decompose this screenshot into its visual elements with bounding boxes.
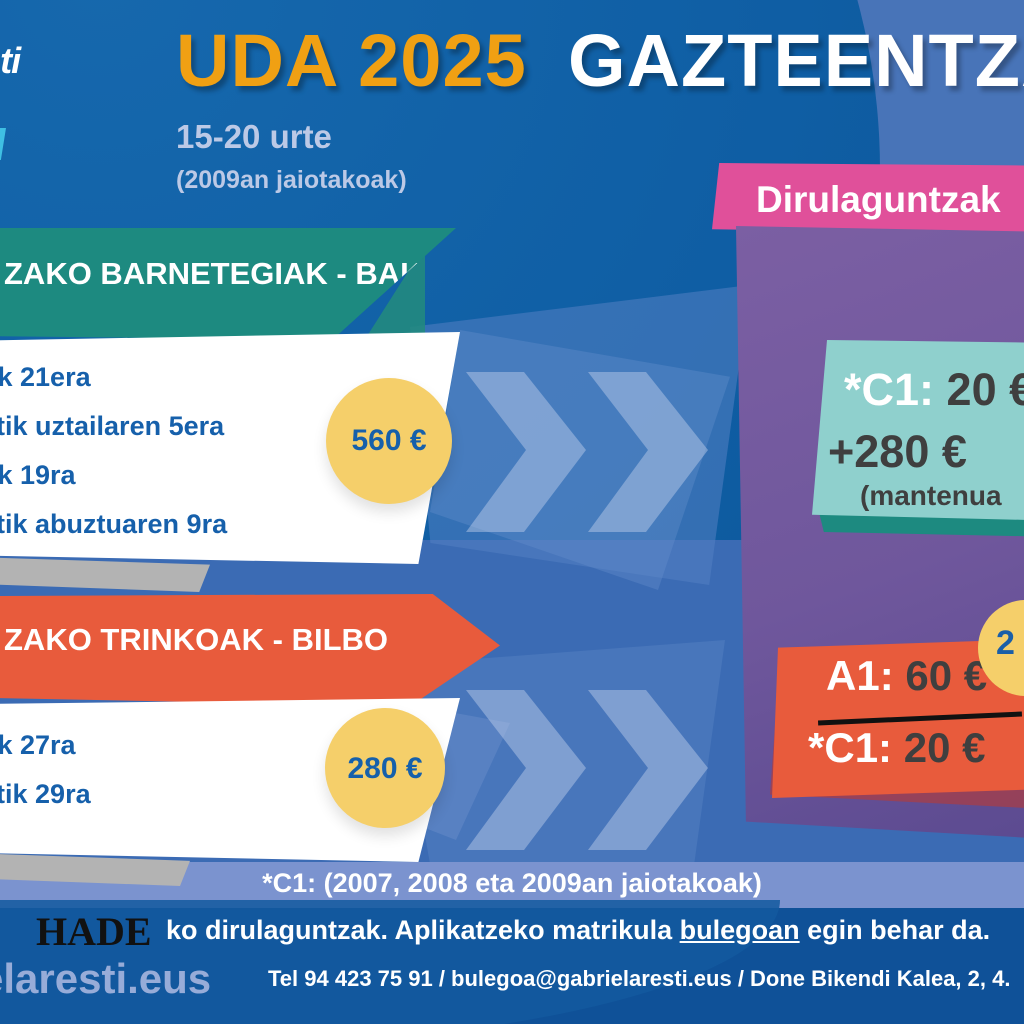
footnote-text: *C1: (2007, 2008 eta 2009an jaiotakoak) bbox=[0, 868, 1024, 899]
logo-line-1: aresti bbox=[0, 44, 120, 78]
subsidy-red-bottom-label: C1: bbox=[824, 724, 892, 771]
logo-line-2: gia* bbox=[0, 80, 108, 114]
price-badge-trinkoak: 280 € bbox=[325, 708, 445, 828]
subsidy-red-bottom-value: 20 € bbox=[904, 724, 986, 771]
list-item: n 2tik 27ra bbox=[0, 730, 91, 761]
hade-description-before: ko dirulaguntzak. Aplikatzeko matrikula bbox=[166, 915, 680, 945]
hade-description: ko dirulaguntzak. Aplikatzeko matrikula … bbox=[166, 915, 990, 946]
arrow-chevron-1b bbox=[588, 372, 708, 532]
price-badge-barnetegiak: 560 € bbox=[326, 378, 452, 504]
birth-year-note: (2009an jaiotakoak) bbox=[176, 166, 407, 195]
price-badge-barnetegiak-label: 560 € bbox=[326, 424, 452, 458]
section-heading-trinkoak: ZAKO TRINKOAK - BILBO bbox=[0, 594, 500, 706]
poster-canvas: aresti gia* ehiago UDA 2025 GAZTEENTZA 1… bbox=[0, 0, 1024, 1024]
subsidy-red-line-1: A1: 60 € bbox=[826, 652, 987, 700]
price-badge-trinkoak-label: 280 € bbox=[325, 752, 445, 786]
asterisk-icon: * bbox=[844, 364, 862, 415]
arrow-chevron-2a bbox=[466, 690, 586, 850]
list-item: n 7tik 19ra bbox=[0, 460, 227, 491]
section-heading-trinkoak-label: ZAKO TRINKOAK - BILBO bbox=[4, 622, 388, 658]
arrow-chevron-1a bbox=[466, 372, 586, 532]
page-title-rest: GAZTEENTZA bbox=[568, 24, 1024, 98]
subsidy-red-top-value: 60 € bbox=[905, 652, 987, 699]
list-item: n 23tik uztailaren 5era bbox=[0, 411, 227, 442]
subsidy-teal-value: 20 € bbox=[947, 364, 1024, 415]
subsidy-teal-line-3: (mantenua bbox=[860, 480, 1002, 512]
asterisk-icon: * bbox=[808, 724, 824, 771]
subsidy-red-line-2: *C1: 20 € bbox=[808, 724, 985, 772]
subsidy-teal-line-1: *C1: 20 € bbox=[844, 364, 1024, 416]
subsidy-teal-card: *C1: 20 € +280 € (mantenua bbox=[812, 340, 1024, 522]
subsidy-red-top-label: A1: bbox=[826, 652, 894, 699]
subsidy-teal-label: C1: bbox=[862, 364, 935, 415]
page-title-highlight: UDA 2025 bbox=[176, 24, 527, 98]
subsidies-banner-label: Dirulaguntzak bbox=[756, 179, 1001, 221]
price-badge-cut-off-label: 2 bbox=[996, 624, 1015, 663]
age-range-label: 15-20 urte bbox=[176, 118, 332, 156]
subsidy-teal-line-2: +280 € bbox=[828, 426, 967, 478]
hade-description-after: egin behar da. bbox=[800, 915, 991, 945]
subsidies-banner: Dirulaguntzak bbox=[712, 163, 1024, 235]
date-list-trinkoak: n 2tik 27ra n 1etik 29ra bbox=[0, 730, 91, 828]
hade-logo: HADE bbox=[36, 908, 152, 955]
arrow-chevron-2b bbox=[588, 690, 708, 850]
date-list-barnetegiak: n 9tik 21era n 23tik uztailaren 5era n 7… bbox=[0, 362, 227, 558]
website-url[interactable]: rielaresti.eus bbox=[0, 955, 211, 1003]
hade-description-link[interactable]: bulegoan bbox=[680, 915, 800, 945]
list-item: n 1etik 29ra bbox=[0, 779, 91, 810]
list-item: n 28tik abuztuaren 9ra bbox=[0, 509, 227, 540]
list-item: n 9tik 21era bbox=[0, 362, 227, 393]
contact-info: Tel 94 423 75 91 / bulegoa@gabrielaresti… bbox=[268, 966, 1010, 992]
organization-logo: aresti gia* ehiago bbox=[0, 36, 120, 151]
